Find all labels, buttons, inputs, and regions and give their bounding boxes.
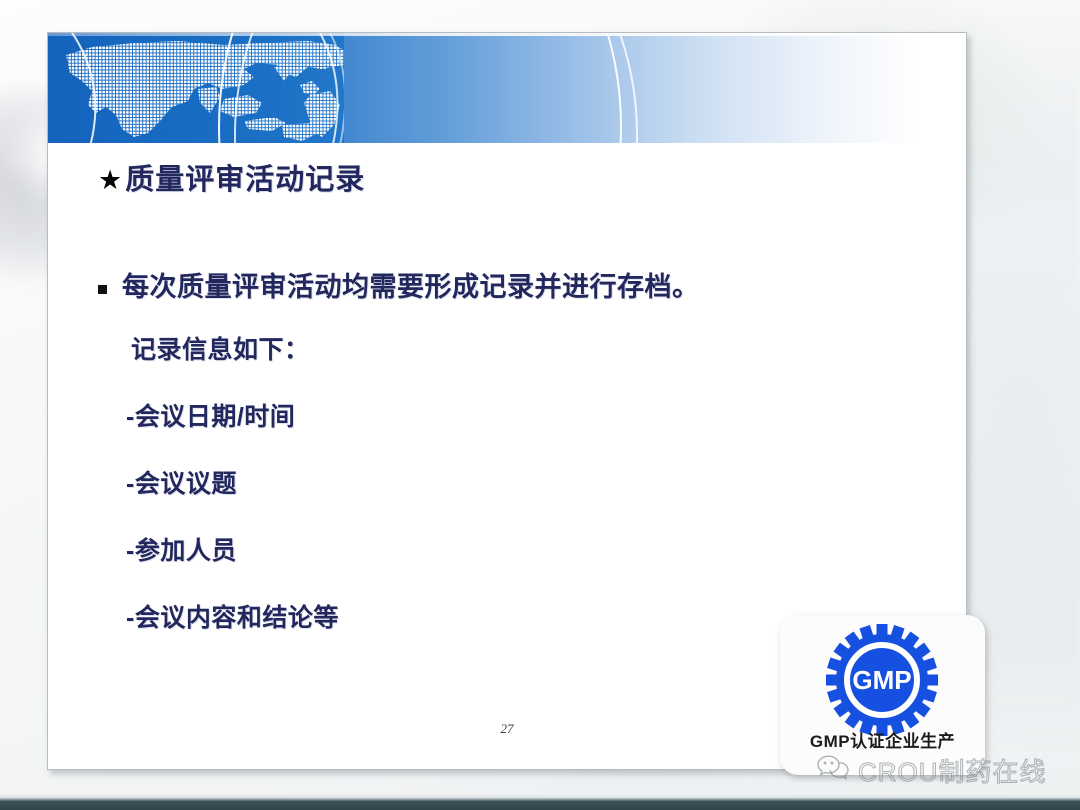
square-bullet-icon bbox=[98, 285, 107, 294]
slide-banner bbox=[48, 33, 966, 143]
gmp-seal-text: GMP bbox=[852, 665, 911, 695]
gmp-seal-icon: GMP bbox=[816, 624, 948, 736]
star-icon: ★ bbox=[98, 165, 123, 195]
gmp-badge-caption: GMP认证企业生产 bbox=[780, 727, 985, 752]
page-title: ★质量评审活动记录 bbox=[98, 156, 365, 198]
gmp-certification-badge: GMP GMP认证企业生产 bbox=[780, 615, 985, 775]
lead-text: 每次质量评审活动均需要形成记录并进行存档。 bbox=[122, 271, 700, 305]
banner-highlight-line bbox=[48, 33, 966, 36]
lead-bullet-row: 每次质量评审活动均需要形成记录并进行存档。 bbox=[98, 271, 908, 305]
page-title-text: 质量评审活动记录 bbox=[125, 164, 365, 196]
slide-body: 每次质量评审活动均需要形成记录并进行存档。 记录信息如下： -会议日期/时间 -… bbox=[98, 271, 908, 634]
list-item: -会议日期/时间 bbox=[126, 397, 908, 433]
banner-arc-inner bbox=[234, 33, 638, 143]
screenshot-canvas: ★质量评审活动记录 每次质量评审活动均需要形成记录并进行存档。 记录信息如下： … bbox=[0, 0, 1080, 810]
list-item: -参加人员 bbox=[126, 531, 908, 567]
bottom-band bbox=[0, 794, 1080, 810]
sub-lead-text: 记录信息如下： bbox=[131, 330, 908, 366]
list-item: -会议议题 bbox=[126, 464, 908, 500]
